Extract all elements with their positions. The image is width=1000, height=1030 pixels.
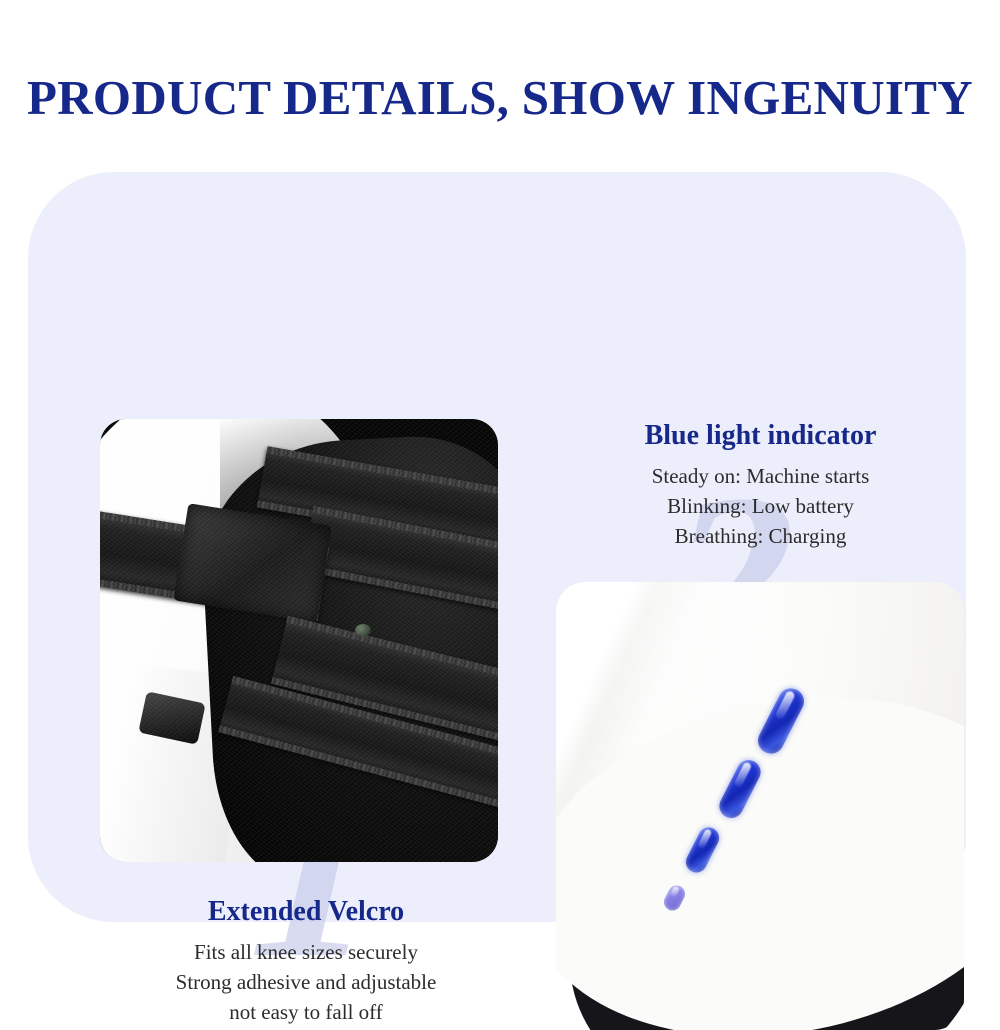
feature-heading: Blue light indicator — [553, 418, 968, 453]
page-title: PRODUCT DETAILS, SHOW INGENUITY — [0, 72, 1000, 123]
feature-line: Blinking: Low battery — [553, 492, 968, 522]
feature-image-blue-light-indicator — [556, 582, 964, 1030]
features-card: 1 2 — [28, 172, 966, 922]
feature-image-extended-velcro — [100, 419, 498, 862]
feature-line: Strong adhesive and adjustable — [106, 968, 506, 998]
feature-heading: Extended Velcro — [106, 894, 506, 929]
feature-line: Breathing: Charging — [553, 522, 968, 552]
feature-text-extended-velcro: Extended Velcro Fits all knee sizes secu… — [106, 894, 506, 1027]
feature-description: Steady on: Machine starts Blinking: Low … — [553, 462, 968, 551]
fabric-detail-dot — [355, 624, 371, 636]
feature-text-blue-light-indicator: Blue light indicator Steady on: Machine … — [553, 418, 968, 551]
feature-line: not easy to fall off — [106, 998, 506, 1028]
product-detail-page: PRODUCT DETAILS, SHOW INGENUITY 1 2 — [0, 0, 1000, 1000]
feature-description: Fits all knee sizes securely Strong adhe… — [106, 938, 506, 1027]
feature-line: Steady on: Machine starts — [553, 462, 968, 492]
feature-line: Fits all knee sizes securely — [106, 938, 506, 968]
